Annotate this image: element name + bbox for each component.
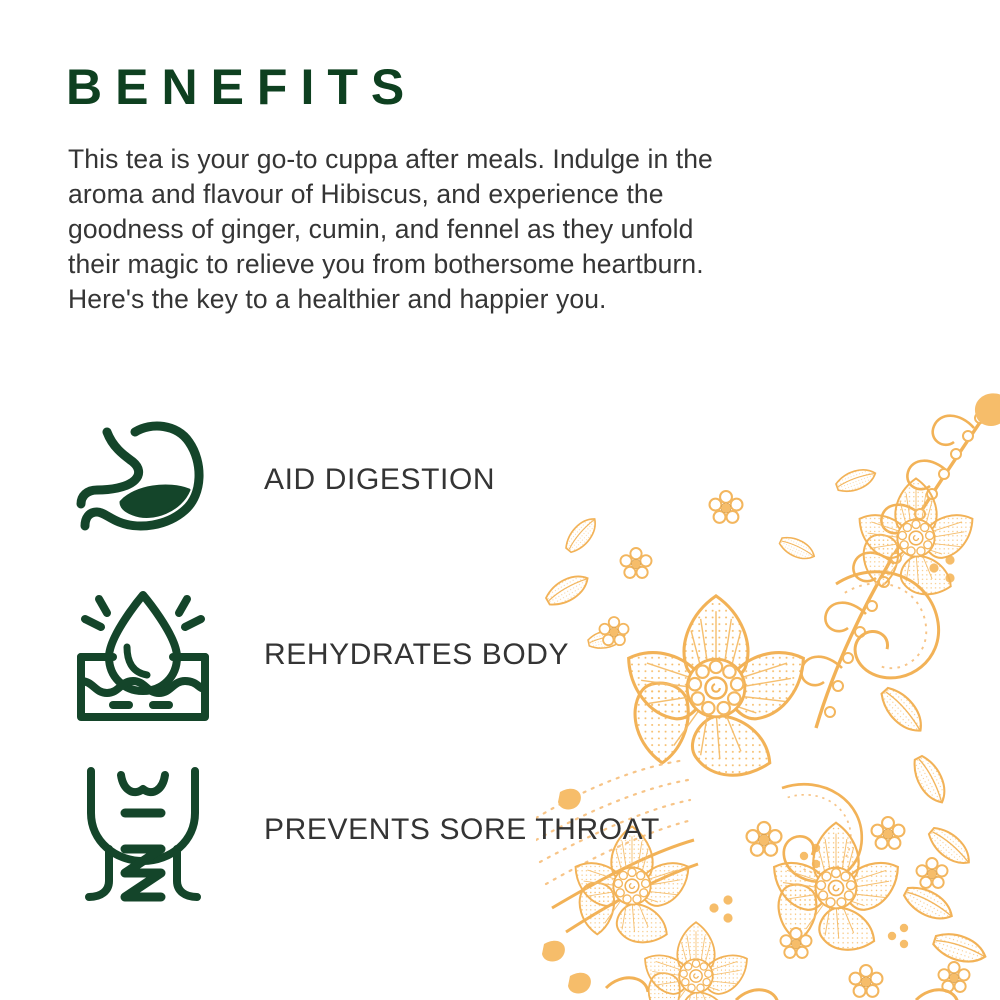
intro-line: This tea is your go-to cuppa after meals… <box>68 142 908 177</box>
benefit-label-prevents-sore-throat: PREVENTS SORE THROAT <box>264 813 660 847</box>
benefit-item-prevents-sore-throat: PREVENTS SORE THROAT <box>0 742 1000 917</box>
stomach-leaf-icon <box>68 405 218 555</box>
throat-icon <box>68 755 218 905</box>
benefit-item-rehydrates-body: REHYDRATES BODY <box>0 567 1000 742</box>
benefits-list: AID DIGESTION <box>0 392 1000 917</box>
benefits-page: BENEFITS This tea is your go-to cuppa af… <box>0 0 1000 1000</box>
intro-line: their magic to relieve you from botherso… <box>68 247 908 282</box>
water-droplet-hydration-icon <box>68 580 218 730</box>
benefit-label-rehydrates-body: REHYDRATES BODY <box>264 638 569 672</box>
benefit-item-aid-digestion: AID DIGESTION <box>0 392 1000 567</box>
benefit-label-aid-digestion: AID DIGESTION <box>264 463 495 497</box>
intro-paragraph: This tea is your go-to cuppa after meals… <box>68 142 908 317</box>
intro-line: Here's the key to a healthier and happie… <box>68 282 908 317</box>
page-title: BENEFITS <box>66 62 417 112</box>
intro-line: aroma and flavour of Hibiscus, and exper… <box>68 177 908 212</box>
intro-line: goodness of ginger, cumin, and fennel as… <box>68 212 908 247</box>
